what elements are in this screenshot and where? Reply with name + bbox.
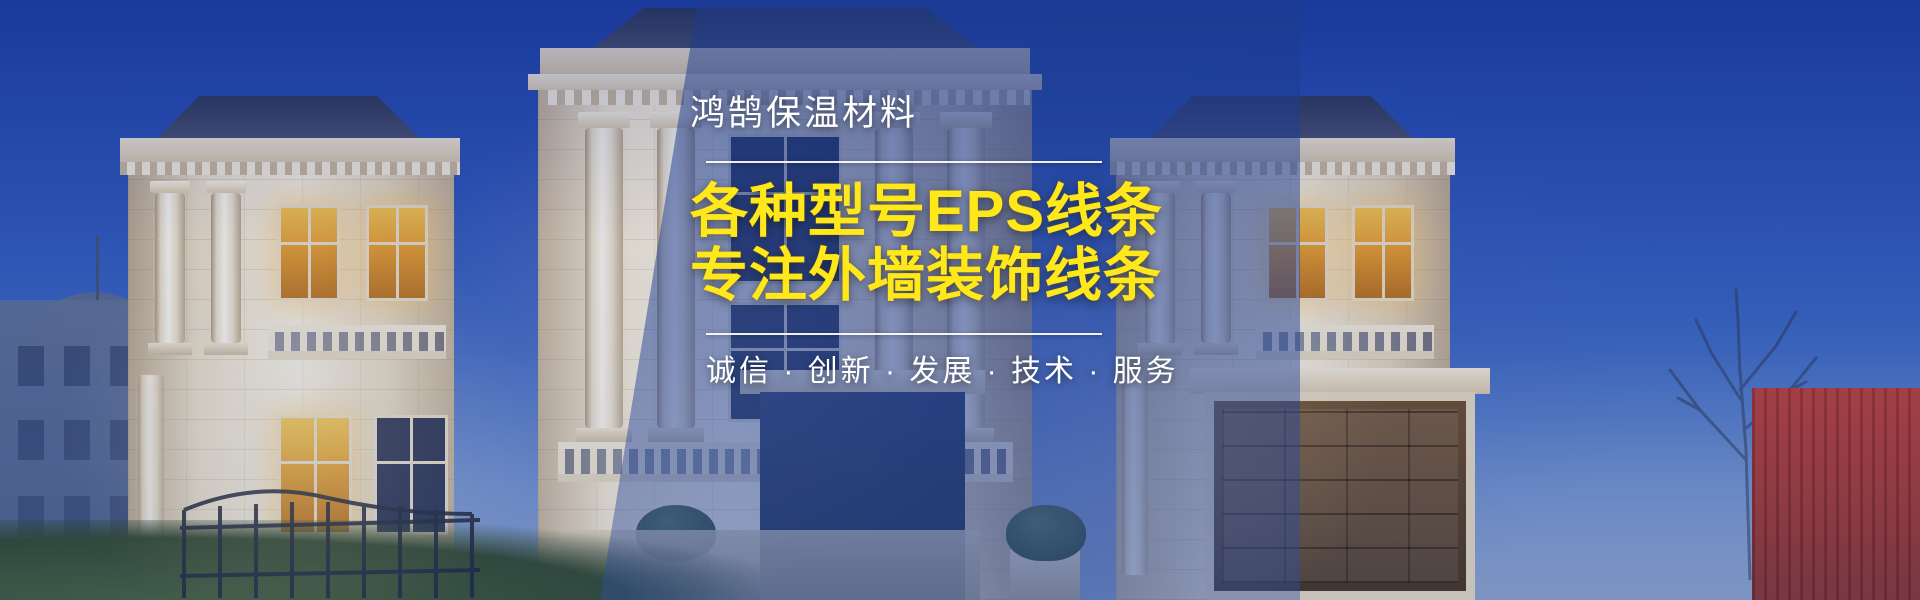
window-lit [1352,205,1414,301]
central-cornice-lower [528,74,1042,90]
headline-line-2: 专注外墙装饰线条 [690,245,1210,307]
shrub [1006,505,1086,561]
garage-door [1205,392,1475,600]
headline-line-1: 各种型号EPS线条 [690,181,1210,243]
tagline: 诚信 · 创新 · 发展 · 技术 · 服务 [706,357,1210,387]
banner-copy: 鸿鹄保温材料 各种型号EPS线条 专注外墙装饰线条 诚信 · 创新 · 发展 ·… [690,96,1210,436]
iron-fence [180,480,600,600]
window-lit [366,205,428,301]
promo-banner: 鸿鹄保温材料 各种型号EPS线条 专注外墙装饰线条 诚信 · 创新 · 发展 ·… [0,0,1920,600]
central-cornice [540,48,1030,74]
divider-bottom [706,333,1102,335]
garage-lintel [1190,368,1490,394]
brand-name: 鸿鹄保温材料 [690,96,1210,131]
divider-top [706,161,1102,163]
window-lit [278,205,340,301]
left-wing-dentil-band [120,162,460,175]
window-lit [1266,205,1328,301]
central-roof [550,8,1020,52]
left-wing-cornice [120,138,460,162]
red-container [1752,388,1920,600]
left-wing-roof [120,96,450,142]
background-mast [96,236,99,302]
